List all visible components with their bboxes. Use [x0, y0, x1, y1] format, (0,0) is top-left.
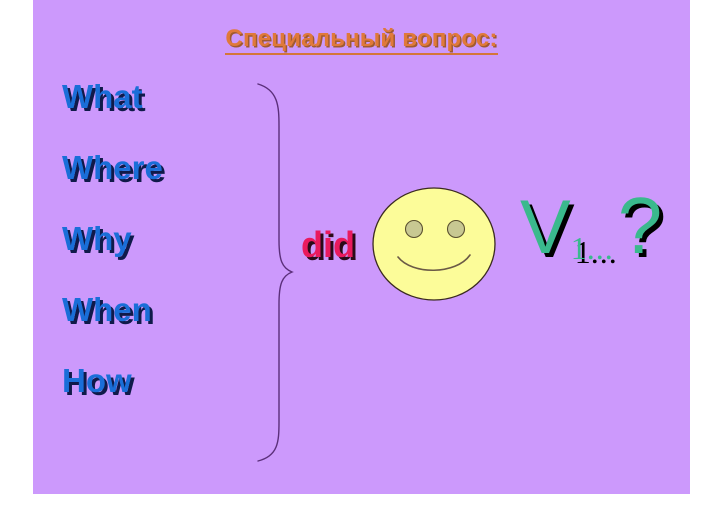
- smiley-face-icon: [370, 185, 498, 303]
- question-word-how: How: [62, 364, 242, 435]
- auxiliary-verb-label: did: [301, 224, 355, 265]
- question-word-label: What: [62, 80, 143, 113]
- verb-letter: V: [520, 185, 571, 270]
- auxiliary-verb-did: did: [301, 224, 355, 265]
- page-title: Специальный вопрос:: [33, 25, 690, 53]
- question-word-label: How: [62, 364, 132, 397]
- question-word-where: Where: [62, 151, 242, 222]
- slide-canvas: Специальный вопрос: What Where Why When …: [33, 0, 690, 494]
- question-word-label: Where: [62, 151, 163, 184]
- page-title-text: Специальный вопрос:: [225, 25, 497, 55]
- verb-ellipsis: ...: [587, 230, 614, 266]
- question-mark: ?: [618, 181, 663, 270]
- verb-phrase: V1...?: [520, 186, 662, 266]
- verb-subscript: 1: [571, 230, 587, 266]
- question-word-label: Why: [62, 222, 132, 255]
- question-word-what: What: [62, 80, 242, 151]
- curly-brace-icon: [238, 80, 294, 464]
- question-word-list: What Where Why When How: [62, 80, 242, 435]
- question-word-when: When: [62, 293, 242, 364]
- question-word-why: Why: [62, 222, 242, 293]
- question-word-label: When: [62, 293, 152, 326]
